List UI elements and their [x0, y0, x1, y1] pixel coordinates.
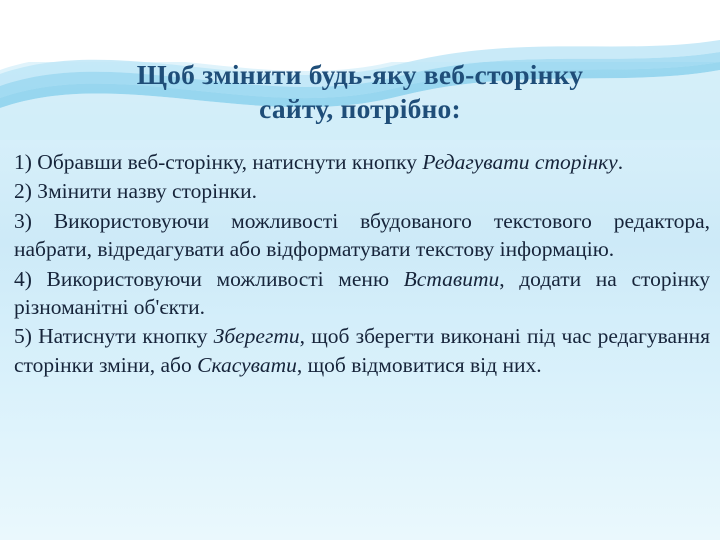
- list-item-text-part-italic: Зберегти: [214, 324, 300, 348]
- body-text: 1) Обравши веб-сторінку, натиснути кнопк…: [14, 148, 710, 380]
- list-item-text-part: , щоб відмовитися від них.: [297, 353, 542, 377]
- slide: Щоб змінити будь-яку веб-сторінку сайту,…: [0, 0, 720, 540]
- list-item: 1) Обравши веб-сторінку, натиснути кнопк…: [14, 148, 710, 176]
- list-item: 4) Використовуючи можливості меню Встави…: [14, 265, 710, 322]
- list-item-text-part: .: [618, 150, 623, 174]
- page-title-line-1: Щоб змінити будь-яку веб-сторінку: [38, 58, 682, 92]
- list-item-text-part: Використовуючи можливості вбудованого те…: [14, 209, 710, 261]
- list-item-text-part-italic: Скасувати: [197, 353, 297, 377]
- list-item-text-part: Використовуючи можливості меню: [32, 267, 404, 291]
- list-item-text-part-italic: Вставити: [404, 267, 500, 291]
- list-item-text-part: Натиснути кнопку: [32, 324, 214, 348]
- list-item-text-part: Обравши веб-сторінку, натиснути кнопку: [32, 150, 422, 174]
- list-item-text-part: Змінити назву сторінки.: [32, 179, 257, 203]
- list-item: 3) Використовуючи можливості вбудованого…: [14, 207, 710, 264]
- page-title-line-2: сайту, потрібно:: [38, 92, 682, 126]
- list-item-text-part-italic: Редагувати сторінку: [422, 150, 617, 174]
- list-item-marker: 1): [14, 150, 32, 174]
- list-item: 2) Змінити назву сторінки.: [14, 177, 710, 205]
- list-item-marker: 4): [14, 267, 32, 291]
- list-item-marker: 3): [14, 209, 32, 233]
- list-item: 5) Натиснути кнопку Зберегти, щоб зберег…: [14, 322, 710, 379]
- page-title: Щоб змінити будь-яку веб-сторінку сайту,…: [38, 58, 682, 125]
- list-item-marker: 5): [14, 324, 32, 348]
- list-item-marker: 2): [14, 179, 32, 203]
